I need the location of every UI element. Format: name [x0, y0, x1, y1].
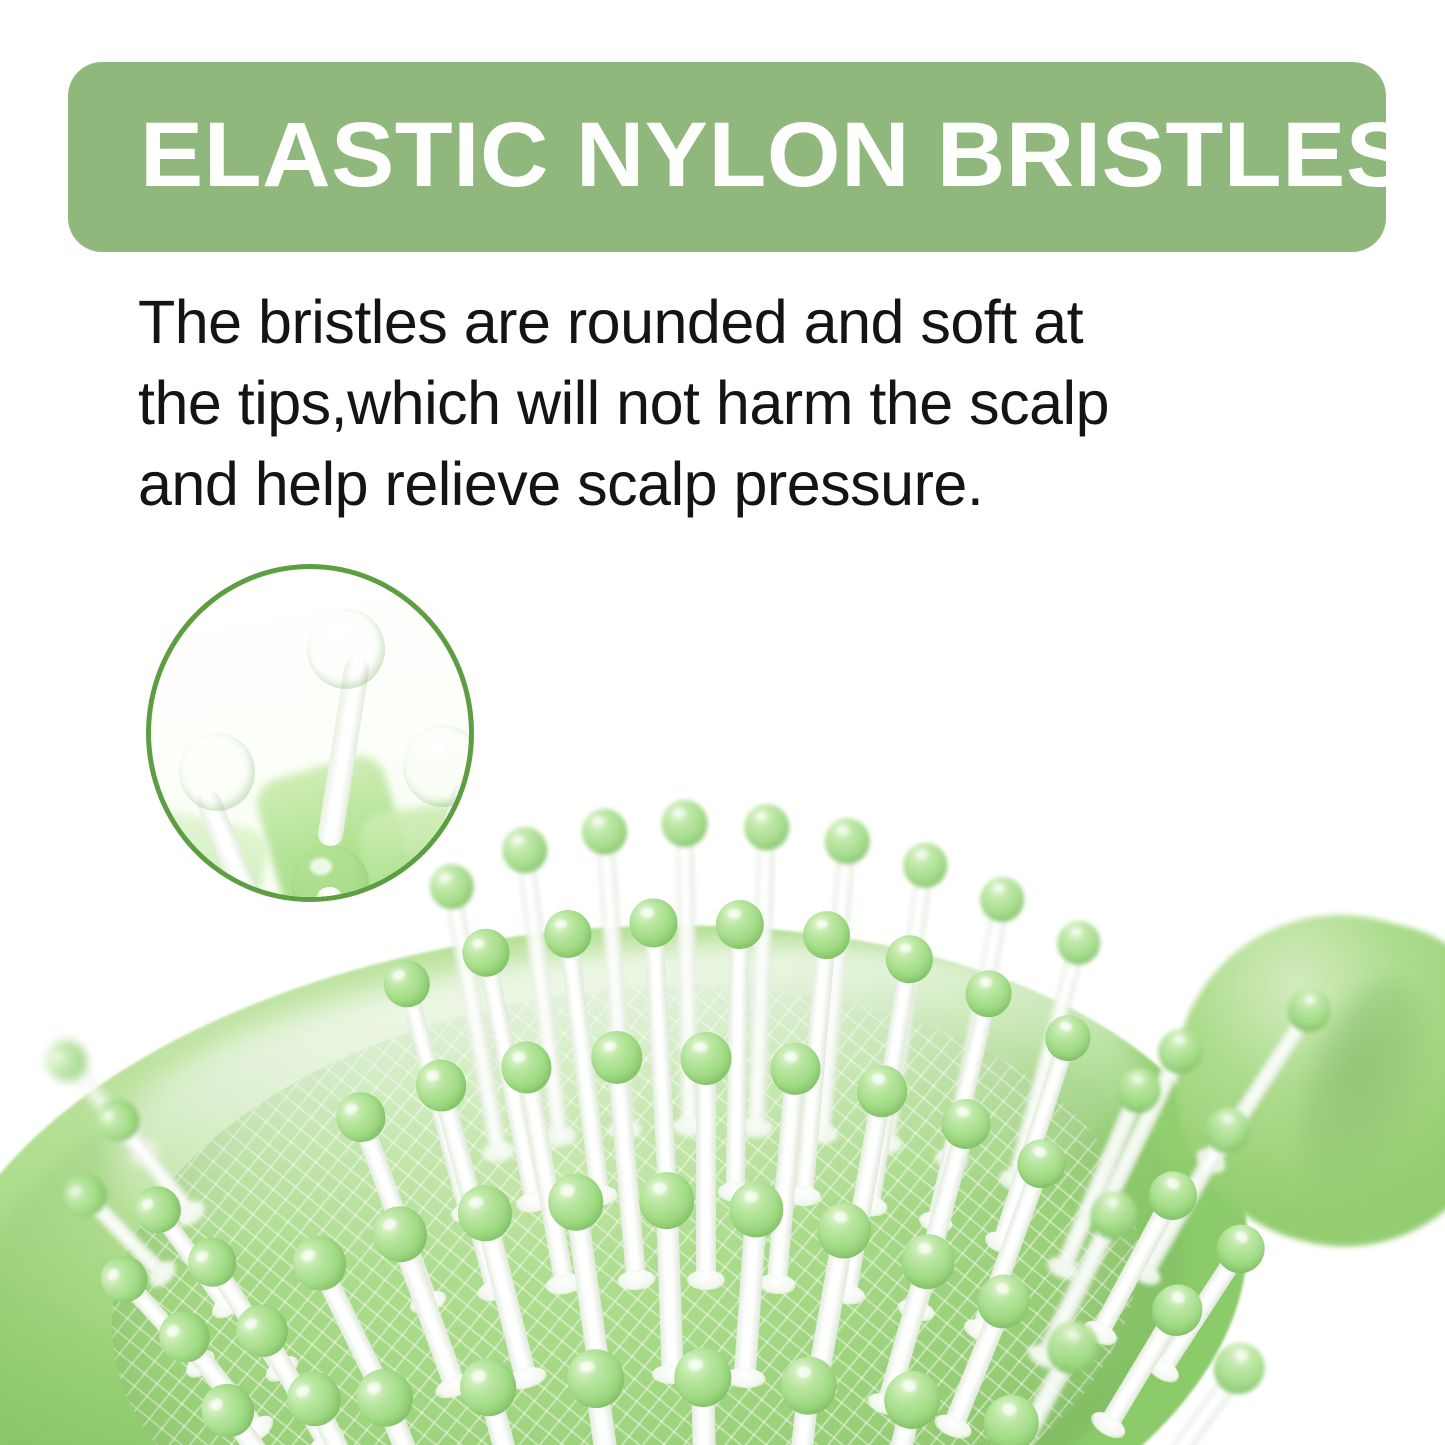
bristle-tip — [715, 900, 764, 950]
bristle-tip — [900, 840, 950, 891]
bristle-tip — [637, 1171, 694, 1230]
bristle-tip — [822, 816, 871, 866]
bristle-tip — [673, 1348, 731, 1408]
bristle-tip — [881, 932, 935, 987]
bristle-tip — [976, 873, 1028, 926]
bristle-tip — [562, 1346, 627, 1412]
magnified-bristle-tip-3 — [403, 725, 474, 807]
bristle-tip — [497, 1038, 555, 1098]
bristle-tip — [541, 907, 593, 960]
magnified-bristle-tip-2 — [179, 733, 255, 811]
bristle-tip — [457, 925, 512, 981]
bristle-tip — [628, 897, 678, 948]
bristle-tip — [426, 861, 477, 913]
bristle-tip — [742, 803, 789, 851]
bristle-tip — [727, 1180, 785, 1240]
header-banner: ELASTIC NYLON BRISTLES — [68, 62, 1386, 252]
bristle — [673, 1348, 733, 1445]
bristle-tip — [544, 1170, 606, 1234]
bristle-tip — [681, 1032, 732, 1085]
bristle-tip — [661, 800, 708, 848]
bristle-tip — [813, 1198, 876, 1263]
bristle-tip — [580, 807, 628, 856]
body-line-1: The bristles are rounded and soft at — [138, 282, 1268, 363]
bristle-stem — [733, 1214, 767, 1387]
bristle-tip — [800, 909, 851, 961]
bristle-tip — [588, 1029, 643, 1086]
bristle-stem — [696, 1064, 716, 1288]
bristle-tip — [853, 1061, 911, 1121]
page-title: ELASTIC NYLON BRISTLES — [140, 109, 1410, 201]
product-photo — [0, 520, 1445, 1445]
magnifier-circle — [146, 564, 474, 902]
bristle-tip — [768, 1041, 822, 1097]
magnified-bristle-tip-1 — [307, 609, 385, 689]
bristle-tip — [778, 1354, 840, 1418]
bristle-tip — [1051, 916, 1104, 970]
body-line-2: the tips,which will not harm the scalp — [138, 363, 1268, 444]
body-line-3: and help relieve scalp pressure. — [138, 444, 1268, 525]
infographic-page: ELASTIC NYLON BRISTLES The bristles are … — [0, 0, 1445, 1445]
body-description: The bristles are rounded and soft at the… — [138, 282, 1268, 525]
bristle-tip — [499, 825, 549, 876]
